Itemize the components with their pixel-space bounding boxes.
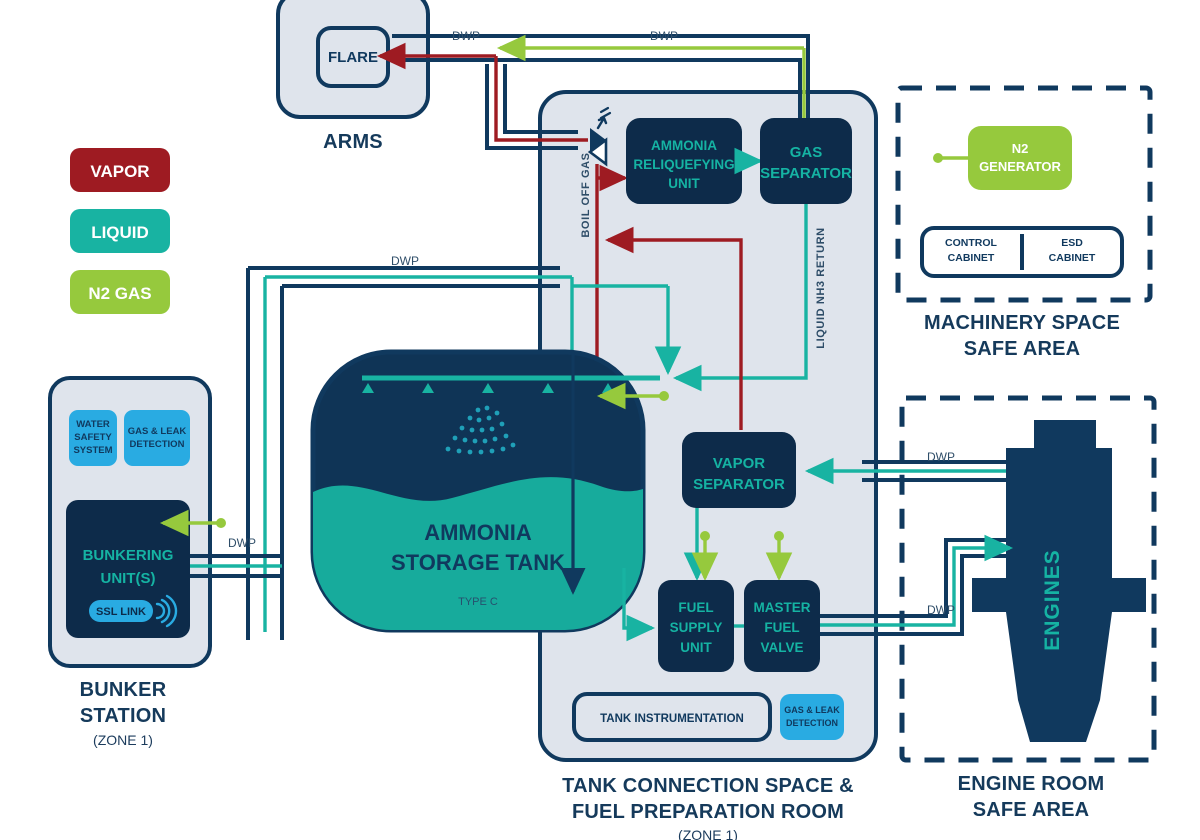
machinery-space-area[interactable]: N2 GENERATOR CONTROL CABINET ESD CABINET… bbox=[898, 88, 1150, 360]
engine-room-caption-1: ENGINE ROOM bbox=[958, 773, 1105, 795]
water-safety-label-1: WATER bbox=[76, 419, 110, 430]
n2-generator-label-1: N2 bbox=[1012, 141, 1029, 156]
gas-leak-detection-box-tcs[interactable] bbox=[780, 694, 844, 740]
legend-label-liquid: LIQUID bbox=[91, 223, 149, 242]
gas-separator-label-1: GAS bbox=[790, 144, 823, 161]
engine-label: ENGINES bbox=[1041, 549, 1064, 651]
arms-panel[interactable]: FLARE ARMS bbox=[278, 0, 428, 153]
fsu-label-1: FUEL bbox=[678, 600, 713, 615]
tank-instrumentation-label: TANK INSTRUMENTATION bbox=[600, 713, 744, 725]
tank-type-label: TYPE C bbox=[458, 596, 498, 608]
mfv-label-1: MASTER bbox=[754, 600, 811, 615]
ammonia-reliquefying-unit[interactable]: AMMONIA RELIQUEFYING UNIT bbox=[626, 118, 742, 204]
mfv-label-2: FUEL bbox=[764, 620, 799, 635]
bunker-station-zone: (ZONE 1) bbox=[93, 732, 153, 748]
master-fuel-valve[interactable]: MASTER FUEL VALVE bbox=[744, 580, 820, 672]
vapor-separator-label-2: SEPARATOR bbox=[693, 476, 785, 493]
control-cabinet-label-2: CABINET bbox=[948, 252, 995, 264]
legend-item-n2gas[interactable]: N2 GAS bbox=[70, 270, 170, 314]
tank-label-2: STORAGE TANK bbox=[391, 550, 565, 575]
fsu-label-2: SUPPLY bbox=[670, 620, 723, 635]
bunker-station-panel[interactable]: WATER SAFETY SYSTEM GAS & LEAK DETECTION… bbox=[50, 378, 210, 748]
dwp-label-arms: DWP bbox=[452, 29, 480, 43]
reliquefying-label-2: RELIQUEFYING bbox=[633, 157, 734, 172]
tank-instrumentation-row: TANK INSTRUMENTATION GAS & LEAK DETECTIO… bbox=[574, 694, 844, 740]
gas-leak-detection-box-bunker[interactable] bbox=[124, 410, 190, 466]
legend-item-liquid[interactable]: LIQUID bbox=[70, 209, 170, 253]
water-safety-label-3: SYSTEM bbox=[73, 445, 112, 456]
n2-generator-box[interactable] bbox=[968, 126, 1072, 190]
dwp-label-engine-lower: DWP bbox=[927, 603, 955, 617]
n2-generator-node bbox=[933, 153, 943, 163]
fsu-label-3: UNIT bbox=[680, 640, 712, 655]
engine-room-caption-2: SAFE AREA bbox=[973, 799, 1090, 821]
machinery-space-caption-1: MACHINERY SPACE bbox=[924, 312, 1120, 334]
control-cabinet-label-1: CONTROL bbox=[945, 237, 997, 249]
bunker-station-caption-1: BUNKER bbox=[80, 679, 167, 701]
vapor-separator[interactable]: VAPOR SEPARATOR bbox=[682, 432, 796, 508]
legend-label-vapor: VAPOR bbox=[90, 162, 149, 181]
gas-leak-tcs-label-2: DETECTION bbox=[786, 718, 838, 728]
n2-generator-label-2: GENERATOR bbox=[979, 159, 1061, 174]
tank-label-1: AMMONIA bbox=[424, 520, 532, 545]
boil-off-gas-label: BOIL OFF GAS bbox=[580, 152, 592, 237]
dwp-label-tank-top: DWP bbox=[391, 254, 419, 268]
dwp-label-arms-2: DWP bbox=[650, 29, 678, 43]
ssl-link-label: SSL LINK bbox=[96, 606, 146, 618]
esd-cabinet-label-2: CABINET bbox=[1049, 252, 1096, 264]
tcs-caption-2: FUEL PREPARATION ROOM bbox=[572, 801, 844, 823]
gas-leak-tcs-label-1: GAS & LEAK bbox=[784, 705, 840, 715]
arms-caption: ARMS bbox=[323, 131, 383, 153]
gas-leak-bunker-label-1: GAS & LEAK bbox=[128, 426, 187, 437]
dwp-label-bunker: DWP bbox=[228, 536, 256, 550]
bunker-station-caption-2: STATION bbox=[80, 705, 166, 727]
legend-item-vapor[interactable]: VAPOR bbox=[70, 148, 170, 192]
flare-label: FLARE bbox=[328, 49, 378, 66]
diagram-canvas: FLARE ARMS VAPOR LIQUID N2 GAS N2 GENERA… bbox=[0, 0, 1200, 840]
fuel-supply-unit[interactable]: FUEL SUPPLY UNIT bbox=[658, 580, 734, 672]
machinery-space-caption-2: SAFE AREA bbox=[964, 338, 1081, 360]
reliquefying-label-3: UNIT bbox=[668, 176, 700, 191]
tank-connection-space-caption: TANK CONNECTION SPACE & FUEL PREPARATION… bbox=[562, 775, 854, 840]
legend: VAPOR LIQUID N2 GAS bbox=[70, 148, 170, 314]
gas-leak-bunker-label-2: DETECTION bbox=[130, 439, 185, 450]
bunkering-unit-label-1: BUNKERING bbox=[83, 547, 174, 564]
water-safety-label-2: SAFETY bbox=[74, 432, 112, 443]
tcs-caption-1: TANK CONNECTION SPACE & bbox=[562, 775, 854, 797]
gas-separator[interactable]: GAS SEPARATOR bbox=[760, 118, 852, 204]
vapor-separator-label-1: VAPOR bbox=[713, 455, 765, 472]
reliquefying-label-1: AMMONIA bbox=[651, 138, 717, 153]
ammonia-storage-tank[interactable]: AMMONIA STORAGE TANK TYPE C bbox=[313, 352, 660, 632]
mfv-label-3: VALVE bbox=[760, 640, 803, 655]
esd-cabinet-label-1: ESD bbox=[1061, 237, 1083, 249]
bunkering-unit-label-2: UNIT(S) bbox=[101, 570, 156, 587]
dwp-label-engine-upper: DWP bbox=[927, 450, 955, 464]
tcs-zone: (ZONE 1) bbox=[678, 827, 738, 840]
gas-separator-label-2: SEPARATOR bbox=[760, 165, 852, 182]
liquid-nh3-return-label: LIQUID NH3 RETURN bbox=[815, 227, 827, 348]
legend-label-n2gas: N2 GAS bbox=[88, 284, 151, 303]
